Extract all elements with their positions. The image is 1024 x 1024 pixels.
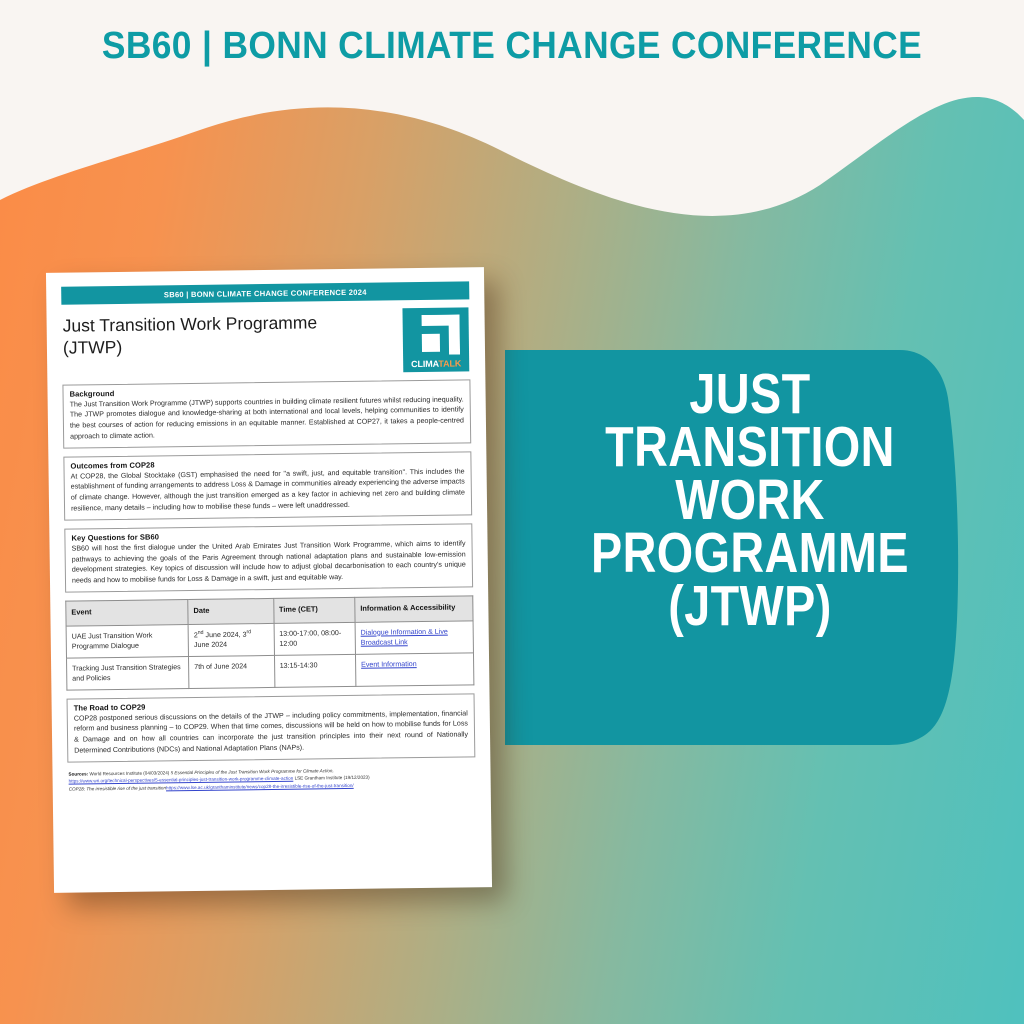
section-road-to-cop29: The Road to COP29 COP28 postponed seriou…: [67, 693, 476, 762]
sources-label: Sources:: [68, 771, 88, 776]
right-panel-title: JUST TRANSITION WORK PROGRAMME (JTWP): [574, 368, 927, 633]
sources-text-2: LSE Grantham Institute (19/12/2023): [293, 775, 369, 781]
event-information-link[interactable]: Event Information: [361, 660, 417, 669]
logo-word-clima: CLIMA: [411, 358, 438, 368]
cell-time: 13:00-17:00, 08:00-12:00: [274, 622, 356, 655]
date-ordinal-2: rd: [246, 629, 251, 635]
section-key-questions: Key Questions for SB60 SB60 will host th…: [64, 523, 473, 592]
sources-link-wri[interactable]: https://www.wri.org/technical-perspectiv…: [69, 776, 294, 784]
sources-italic-2a: COP28: [69, 786, 84, 791]
sources-text-1: World Resources Institute (04/03/2024): [88, 770, 170, 776]
cell-date: 7th of June 2024: [189, 655, 275, 688]
table-row: UAE Just Transition Work Programme Dialo…: [66, 620, 473, 657]
sources-link-lse[interactable]: https://www.lse.ac.uk/granthaminstitute/…: [166, 783, 354, 790]
sources-italic-1: 5 Essential Principles of the Just Trans…: [171, 768, 334, 775]
th-date: Date: [188, 598, 274, 624]
document-card[interactable]: SB60 | BONN CLIMATE CHANGE CONFERENCE 20…: [46, 267, 492, 893]
document-header-row: Just Transition Work Programme (JTWP) CL…: [57, 299, 474, 384]
climatalk-logo-mark-icon: [412, 314, 461, 355]
date-part-3: June 2024: [194, 641, 227, 649]
section-road-body: COP28 postponed serious discussions on t…: [74, 708, 469, 756]
cell-time: 13:15-14:30: [274, 654, 356, 687]
section-outcomes-body: At COP28, the Global Stocktake (GST) emp…: [71, 466, 466, 514]
section-key-questions-body: SB60 will host the first dialogue under …: [72, 538, 467, 586]
cell-event: Tracking Just Transition Strategies and …: [67, 656, 190, 690]
th-event: Event: [66, 599, 188, 625]
climatalk-logo-wordmark: CLIMATALK: [403, 358, 469, 369]
date-part-2: June 2024, 3: [203, 630, 246, 639]
section-background-body: The Just Transition Work Programme (JTWP…: [70, 394, 465, 442]
th-information: Information & Accessibility: [355, 596, 473, 622]
th-time: Time (CET): [273, 597, 355, 623]
sources-footer: Sources: World Resources Institute (04/0…: [68, 765, 474, 793]
cell-date: 2nd June 2024, 3rd June 2024: [188, 623, 274, 656]
right-teal-panel: JUST TRANSITION WORK PROGRAMME (JTWP): [505, 320, 1024, 760]
page-title: SB60 | BONN CLIMATE CHANGE CONFERENCE: [36, 25, 988, 68]
dialogue-information-link[interactable]: Dialogue Information & Live Broadcast Li…: [361, 627, 448, 646]
climatalk-logo: CLIMATALK: [402, 307, 469, 372]
cell-information: Event Information: [355, 652, 473, 686]
table-row: Tracking Just Transition Strategies and …: [67, 652, 474, 689]
sources-italic-2b: : The irresistible rise of the just tran…: [84, 785, 166, 791]
logo-word-talk: TALK: [438, 358, 461, 368]
cell-information: Dialogue Information & Live Broadcast Li…: [355, 620, 473, 654]
section-background: Background The Just Transition Work Prog…: [62, 379, 471, 448]
section-outcomes: Outcomes from COP28 At COP28, the Global…: [63, 451, 472, 520]
cell-event: UAE Just Transition Work Programme Dialo…: [66, 624, 189, 658]
document-title: Just Transition Work Programme (JTWP): [63, 310, 374, 359]
events-table: Event Date Time (CET) Information & Acce…: [65, 595, 474, 690]
